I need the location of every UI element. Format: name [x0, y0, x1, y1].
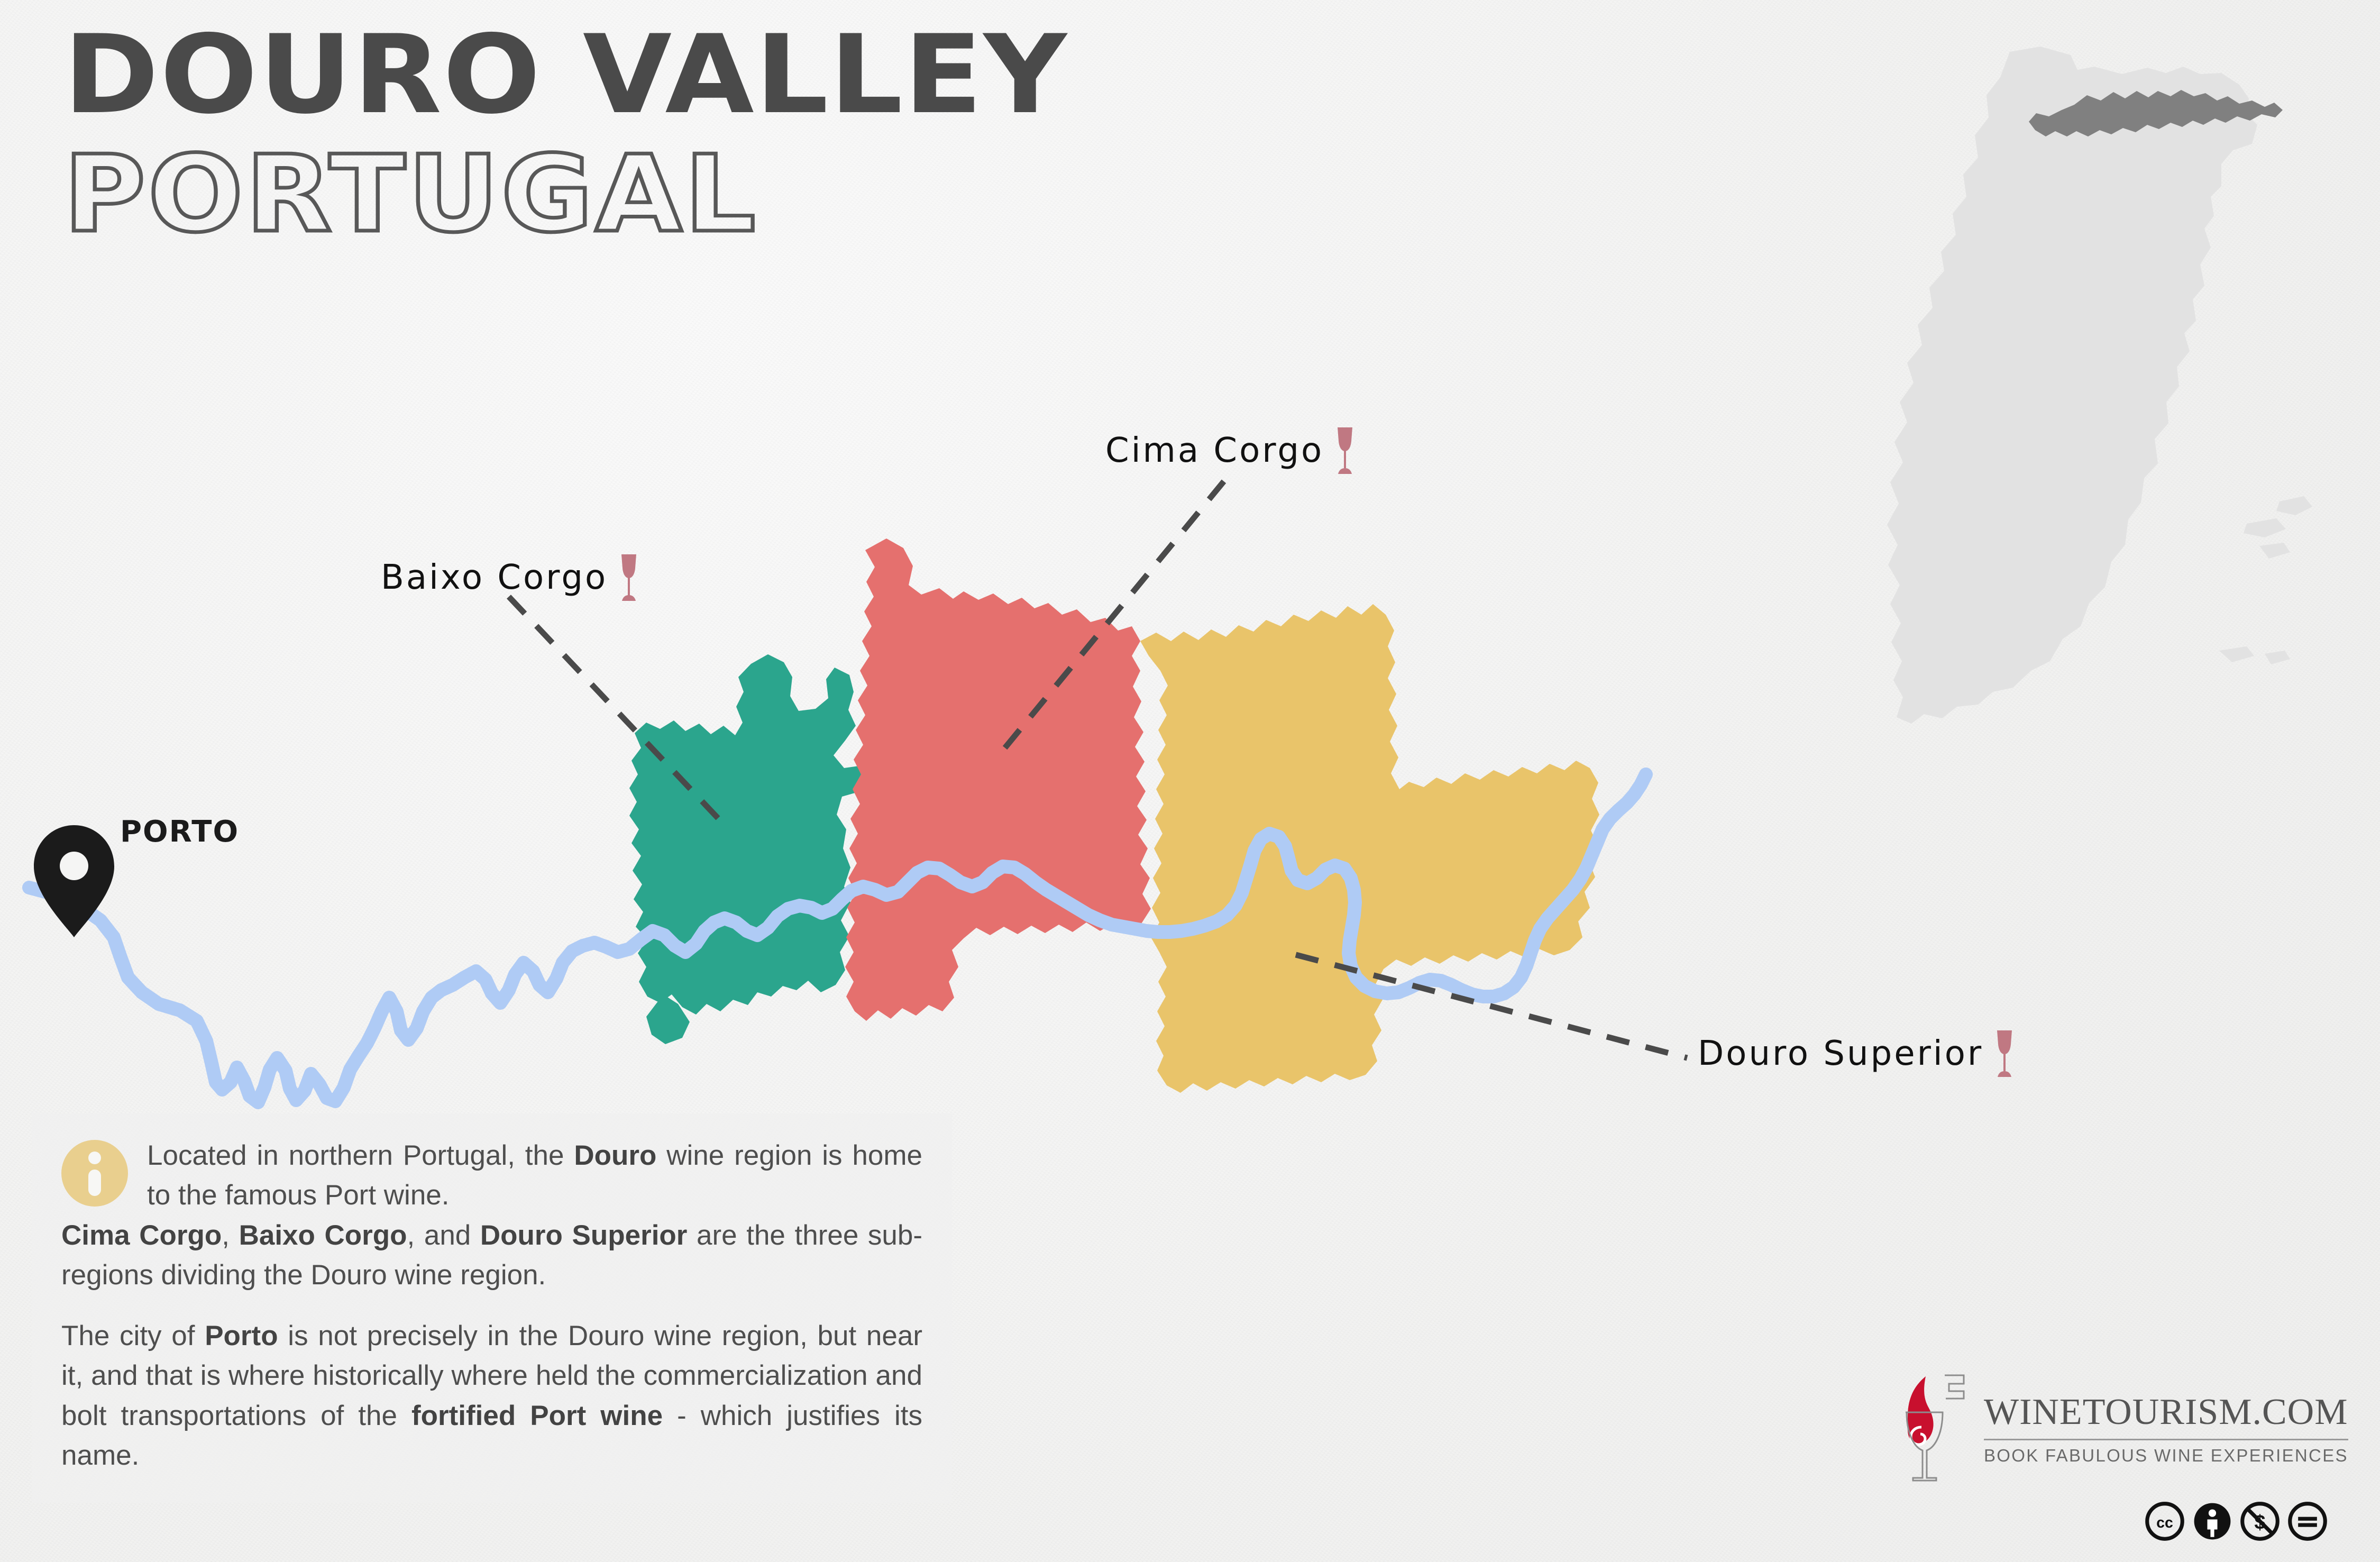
portugal-country-shape [1887, 47, 2257, 724]
info-p3-pre: The city of [61, 1320, 205, 1351]
porto-label: PORTO [120, 815, 239, 849]
info-p1-bold: Douro [574, 1140, 656, 1171]
cc-icon: cc [2145, 1501, 2185, 1541]
logo-divider [1984, 1439, 2348, 1440]
portugal-inset-map [1887, 47, 2312, 724]
region-label-baixo-corgo-text: Baixo Corgo [381, 558, 608, 597]
winetourism-logo[interactable]: WINETOURISM.COM BOOK FABULOUS WINE EXPER… [1896, 1370, 2348, 1486]
wine-glass-icon [617, 553, 640, 602]
info-p2-sep1: , [222, 1220, 239, 1251]
info-p3-b1: Porto [205, 1320, 278, 1351]
info-p2-b1: Cima Corgo [61, 1220, 222, 1251]
info-icon [61, 1140, 128, 1207]
info-paragraph-2: Cima Corgo, Baixo Corgo, and Douro Super… [61, 1216, 922, 1295]
region-label-douro-superior[interactable]: Douro Superior [1698, 1029, 2016, 1078]
info-p2-b2: Baixo Corgo [239, 1220, 407, 1251]
logo-name: WINETOURISM.COM [1984, 1391, 2348, 1433]
portugal-islands [2219, 496, 2312, 664]
region-baixo-corgo[interactable] [629, 654, 867, 1044]
creative-commons-badges[interactable]: cc $ [2145, 1501, 2328, 1541]
by-icon [2192, 1501, 2232, 1541]
wine-glass-pour-icon [1896, 1370, 1970, 1486]
region-label-douro-superior-text: Douro Superior [1698, 1034, 1983, 1073]
region-label-cima-corgo-text: Cima Corgo [1105, 431, 1324, 470]
info-panel: Located in northern Portugal, the Douro … [32, 1113, 952, 1503]
region-cima-corgo[interactable] [845, 538, 1151, 1021]
info-p2-b3: Douro Superior [480, 1220, 688, 1251]
info-p1-pre: Located in northern Portugal, the [147, 1140, 574, 1171]
info-paragraph-1: Located in northern Portugal, the Douro … [147, 1136, 922, 1216]
nc-icon: $ [2240, 1501, 2280, 1541]
logo-tagline: BOOK FABULOUS WINE EXPERIENCES [1984, 1446, 2348, 1466]
info-p3-b2: fortified Port wine [411, 1400, 663, 1431]
city-marker-porto[interactable]: PORTO [50, 815, 239, 849]
wine-glass-icon [1333, 426, 1357, 475]
region-label-baixo-corgo[interactable]: Baixo Corgo [381, 553, 640, 602]
wine-glass-icon [1993, 1029, 2016, 1078]
region-label-cima-corgo[interactable]: Cima Corgo [1105, 426, 1357, 475]
info-paragraph-3: The city of Porto is not precisely in th… [61, 1316, 922, 1475]
nd-icon [2287, 1501, 2328, 1541]
svg-text:cc: cc [2156, 1514, 2173, 1531]
info-p2-sep2: , and [407, 1220, 480, 1251]
